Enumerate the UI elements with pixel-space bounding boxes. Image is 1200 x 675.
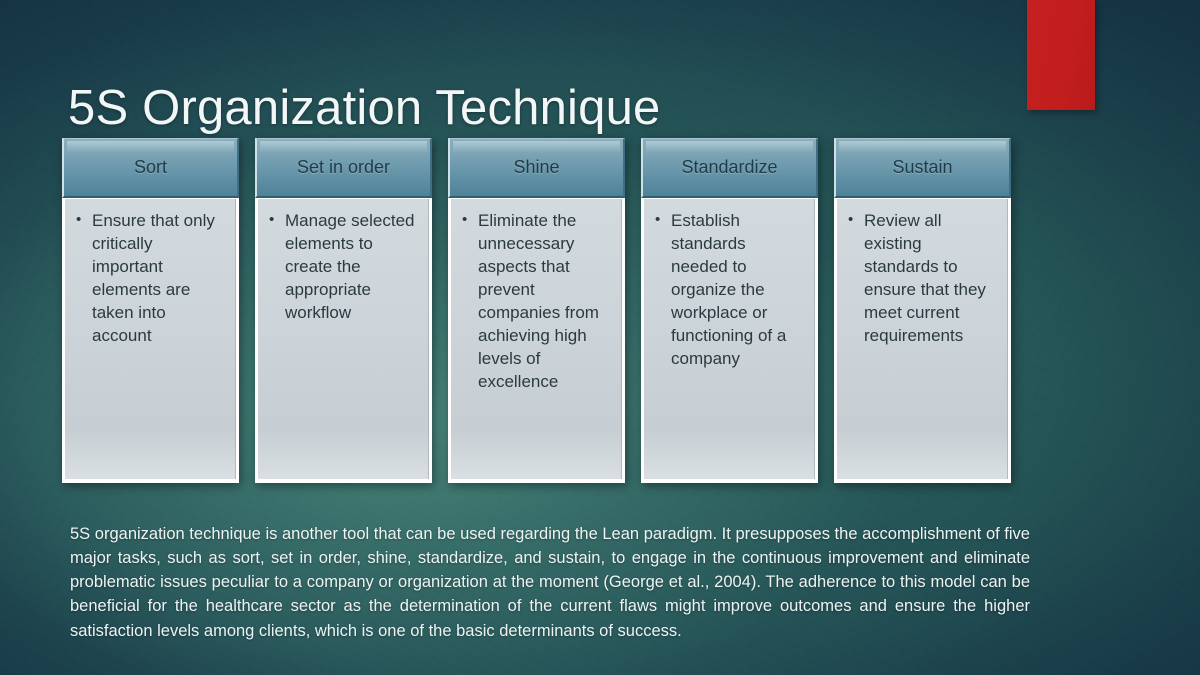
card-body-standardize: Establish standards needed to organize t… [641,198,818,483]
bullet-list: Establish standards needed to organize t… [652,209,807,370]
card-shine[interactable]: Shine Eliminate the unnecessary aspects … [448,138,625,483]
card-body-sustain: Review all existing standards to ensure … [834,198,1011,483]
card-header-label: Sort [134,157,167,178]
body-paragraph: 5S organization technique is another too… [70,522,1030,643]
card-body-set-in-order: Manage selected elements to create the a… [255,198,432,483]
card-body-sort: Ensure that only critically important el… [62,198,239,483]
list-item: Manage selected elements to create the a… [266,209,421,324]
card-header-sustain[interactable]: Sustain [834,138,1011,198]
card-header-sort[interactable]: Sort [62,138,239,198]
page-title: 5S Organization Technique [68,80,661,136]
card-header-standardize[interactable]: Standardize [641,138,818,198]
bullet-list: Eliminate the unnecessary aspects that p… [459,209,614,393]
card-header-label: Standardize [681,157,777,178]
list-item: Eliminate the unnecessary aspects that p… [459,209,614,393]
card-header-label: Shine [513,157,559,178]
card-header-label: Sustain [892,157,952,178]
card-header-set-in-order[interactable]: Set in order [255,138,432,198]
card-sustain[interactable]: Sustain Review all existing standards to… [834,138,1011,483]
bullet-list: Manage selected elements to create the a… [266,209,421,324]
card-header-label: Set in order [297,157,390,178]
card-sort[interactable]: Sort Ensure that only critically importa… [62,138,239,483]
card-set-in-order[interactable]: Set in order Manage selected elements to… [255,138,432,483]
card-header-shine[interactable]: Shine [448,138,625,198]
card-body-shine: Eliminate the unnecessary aspects that p… [448,198,625,483]
smartart-card-group: Sort Ensure that only critically importa… [62,138,1072,483]
bullet-list: Review all existing standards to ensure … [845,209,1000,347]
red-accent-bar [1027,0,1095,110]
card-standardize[interactable]: Standardize Establish standards needed t… [641,138,818,483]
list-item: Review all existing standards to ensure … [845,209,1000,347]
list-item: Establish standards needed to organize t… [652,209,807,370]
slide: 5S Organization Technique Sort Ensure th… [0,0,1200,675]
list-item: Ensure that only critically important el… [73,209,228,347]
bullet-list: Ensure that only critically important el… [73,209,228,347]
